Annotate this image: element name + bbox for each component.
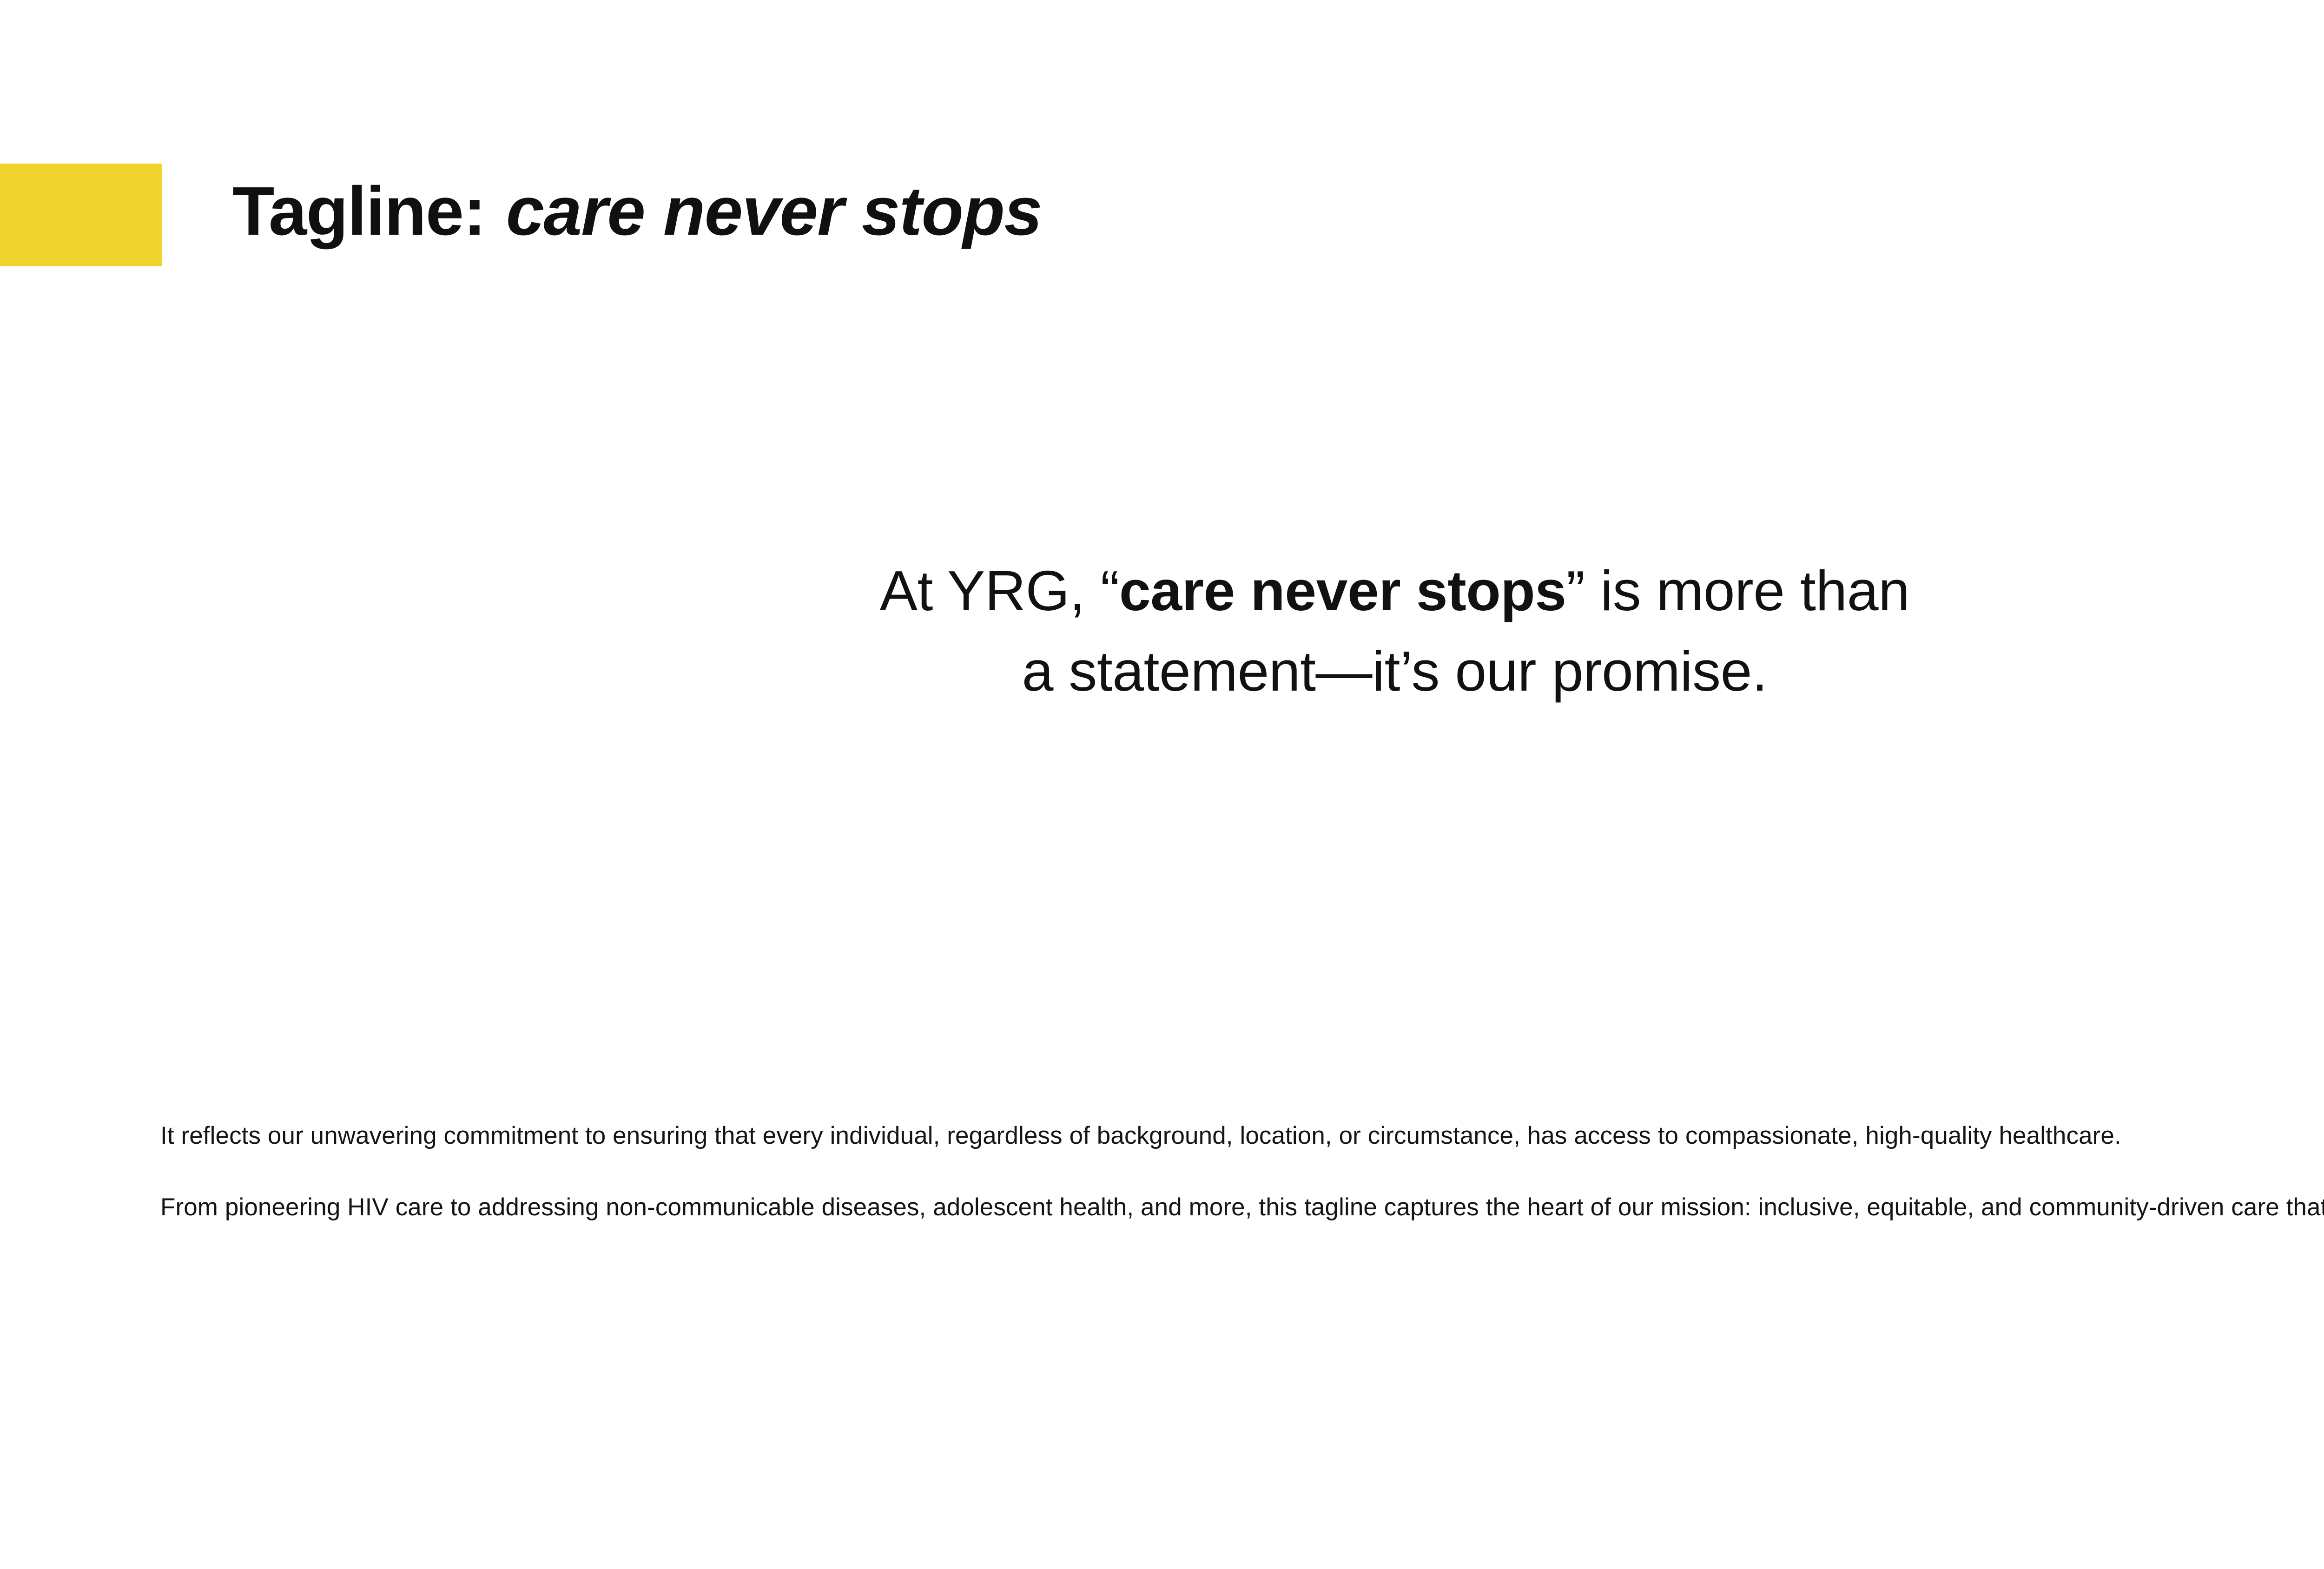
- body-paragraph: It reflects our unwavering commitment to…: [160, 1118, 2324, 1154]
- headline-line-1: At YRG, “care never stops” is more than: [0, 551, 2324, 631]
- headline-emphasis: care never stops: [1119, 559, 1566, 622]
- yellow-accent-block: [0, 164, 162, 266]
- title-phrase: care never stops: [506, 177, 1042, 246]
- page-title: Tagline: care never stops: [232, 153, 2324, 270]
- headline-line-1-suffix: ” is more than: [1566, 559, 1910, 622]
- headline-line-1-prefix: At YRG, “: [880, 559, 1119, 622]
- headline-line-2: a statement—it’s our promise.: [0, 631, 2324, 712]
- slide-canvas: Tagline: care never stops At YRG, “care …: [0, 0, 2324, 1569]
- body-copy: It reflects our unwavering commitment to…: [160, 1118, 2324, 1226]
- title-label: Tagline:: [232, 177, 485, 246]
- body-paragraph: From pioneering HIV care to addressing n…: [160, 1189, 2324, 1226]
- headline-block: At YRG, “care never stops” is more than …: [0, 551, 2324, 712]
